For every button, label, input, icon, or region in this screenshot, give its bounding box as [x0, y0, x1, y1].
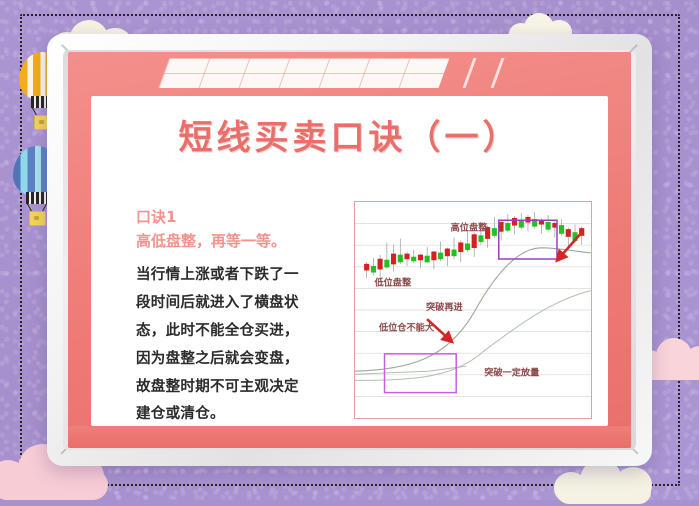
text-panel: 口诀1 高低盘整，再等一等。 当行情上涨或者下跌了一 段时间后就进入了横盘状 态… — [136, 206, 332, 448]
decorative-slash — [490, 58, 505, 88]
svg-text:低位盘整: 低位盘整 — [373, 277, 412, 289]
chart-canvas: 高位盘整低位盘整突破再进低位仓不能大突破一定放量 — [355, 202, 591, 418]
chart-gridlines — [355, 224, 591, 397]
decorative-slash — [462, 58, 477, 88]
formula-subheading: 高低盘整，再等一等。 — [136, 229, 332, 253]
body-paragraph: 当行情上涨或者下跌了一 段时间后就进入了横盘状 态，此时不能全仓买进， 因为盘整… — [136, 262, 332, 429]
page-title: 短线买卖口诀（一） — [91, 110, 608, 159]
content-card: 短线买卖口诀（一） 口诀1 高低盘整，再等一等。 当行情上涨或者下跌了一 段时间… — [91, 96, 608, 426]
svg-text:突破一定放量: 突破一定放量 — [484, 366, 539, 378]
body-line: 故盘整时期不可主观决定 — [136, 374, 332, 402]
svg-text:低位仓不能大: 低位仓不能大 — [378, 321, 435, 333]
formula-heading: 口诀1 — [136, 206, 332, 229]
body-line: 因为盘整之后就会变盘， — [136, 346, 332, 374]
body-line: 当行情上涨或者下跌了一 — [136, 262, 332, 290]
decorative-grid — [159, 58, 450, 88]
svg-text:突破再进: 突破再进 — [426, 301, 464, 313]
decorative-band — [68, 58, 631, 88]
candlestick-chart: 高位盘整低位盘整突破再进低位仓不能大突破一定放量 — [354, 201, 592, 419]
body-line: 段时间后就进入了横盘状 — [136, 290, 332, 318]
moving-average-lines — [355, 248, 591, 381]
body-line: 态，此时不能全仓买进， — [136, 318, 332, 346]
svg-text:高位盘整: 高位盘整 — [451, 221, 489, 233]
poster-bottom-strip — [68, 426, 631, 448]
poster: 短线买卖口诀（一） 口诀1 高低盘整，再等一等。 当行情上涨或者下跌了一 段时间… — [68, 52, 631, 448]
